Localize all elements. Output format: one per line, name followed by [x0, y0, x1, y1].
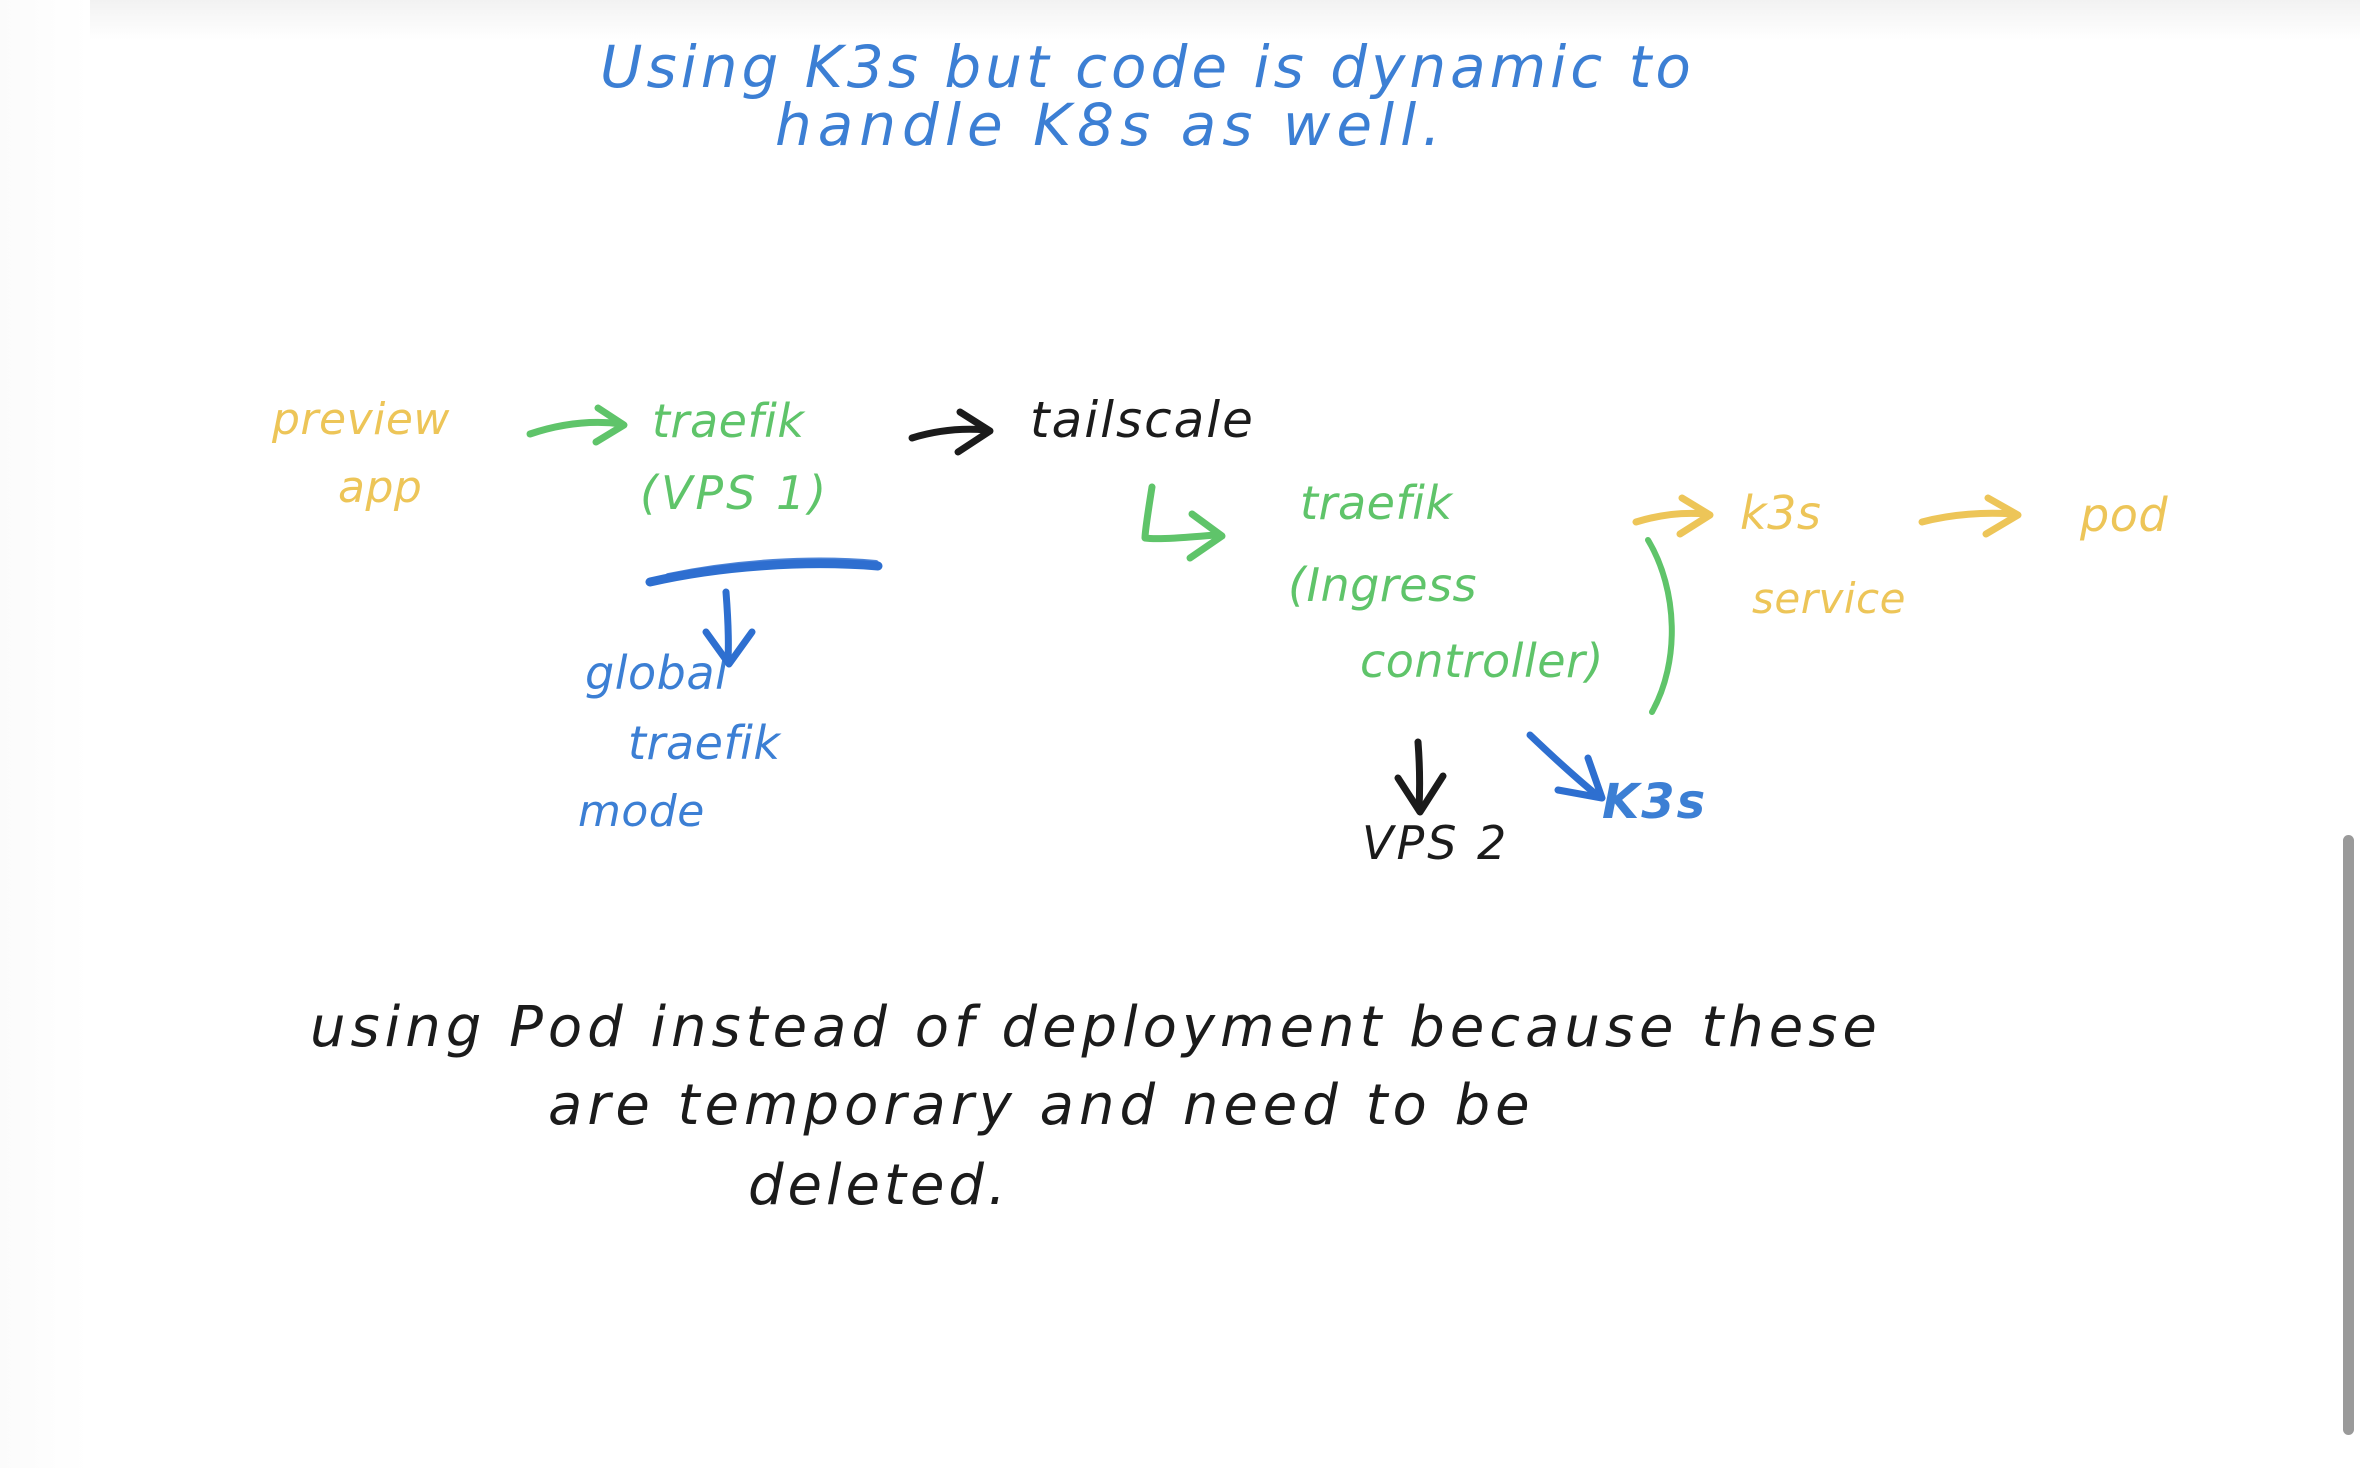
- arrow-tailscale-to-ingress-icon: [1145, 487, 1222, 558]
- connector-strokes-layer: [0, 0, 2360, 1468]
- node-global-traefik-mode-line-2: traefik: [628, 720, 781, 766]
- node-k3s-service-line-2: service: [1752, 578, 1906, 620]
- arrow-to-k3s-icon: [1530, 735, 1602, 798]
- node-global-traefik-mode-line-3: mode: [578, 790, 705, 834]
- bottom-note-line-2: are temporary and need to be: [548, 1078, 1535, 1134]
- node-traefik-vps1-line-1: traefik: [652, 398, 805, 444]
- node-traefik-ingress-line-1: traefik: [1300, 480, 1453, 526]
- node-tailscale-label: tailscale: [1030, 395, 1255, 445]
- node-preview-app-line-2: app: [338, 466, 422, 510]
- node-traefik-ingress-line-3: controller): [1360, 638, 1604, 684]
- scrollbar-thumb[interactable]: [2343, 835, 2354, 1435]
- arrow-ingress-to-k3s-icon: [1636, 498, 1710, 534]
- bottom-note-line-1: using Pod instead of deployment because …: [310, 1000, 1882, 1056]
- node-vps2-label: VPS 2: [1362, 820, 1509, 866]
- arrow-preview-to-traefik-icon: [530, 408, 624, 442]
- title-note-line-2: handle K8s as well.: [775, 96, 1447, 154]
- arrow-ingress-to-vps2-icon: [1398, 742, 1443, 812]
- node-global-traefik-mode-line-1: global: [585, 650, 728, 696]
- node-k3s-service-line-1: k3s: [1740, 490, 1821, 536]
- arrow-traefik-to-tailscale-icon: [912, 412, 990, 452]
- scrollbar-track[interactable]: [2338, 0, 2360, 1468]
- arrow-k3s-to-pod-icon: [1922, 498, 2018, 534]
- underline-vps1-icon: [650, 561, 878, 582]
- bottom-note-line-3: deleted.: [748, 1158, 1010, 1214]
- ingress-closing-paren-sweep: [1648, 540, 1672, 712]
- left-gradient-wash: [0, 0, 90, 1468]
- title-note-line-1: Using K3s but code is dynamic to: [600, 38, 1695, 96]
- node-traefik-vps1-line-2: (VPS 1): [640, 470, 829, 516]
- node-pod-label: pod: [2080, 492, 2168, 538]
- node-k3s-label: K3s: [1602, 778, 1707, 826]
- node-preview-app-line-1: preview: [272, 398, 450, 442]
- node-traefik-ingress-line-2: (Ingress: [1288, 562, 1477, 608]
- whiteboard-canvas[interactable]: Using K3s but code is dynamic to handle …: [0, 0, 2360, 1468]
